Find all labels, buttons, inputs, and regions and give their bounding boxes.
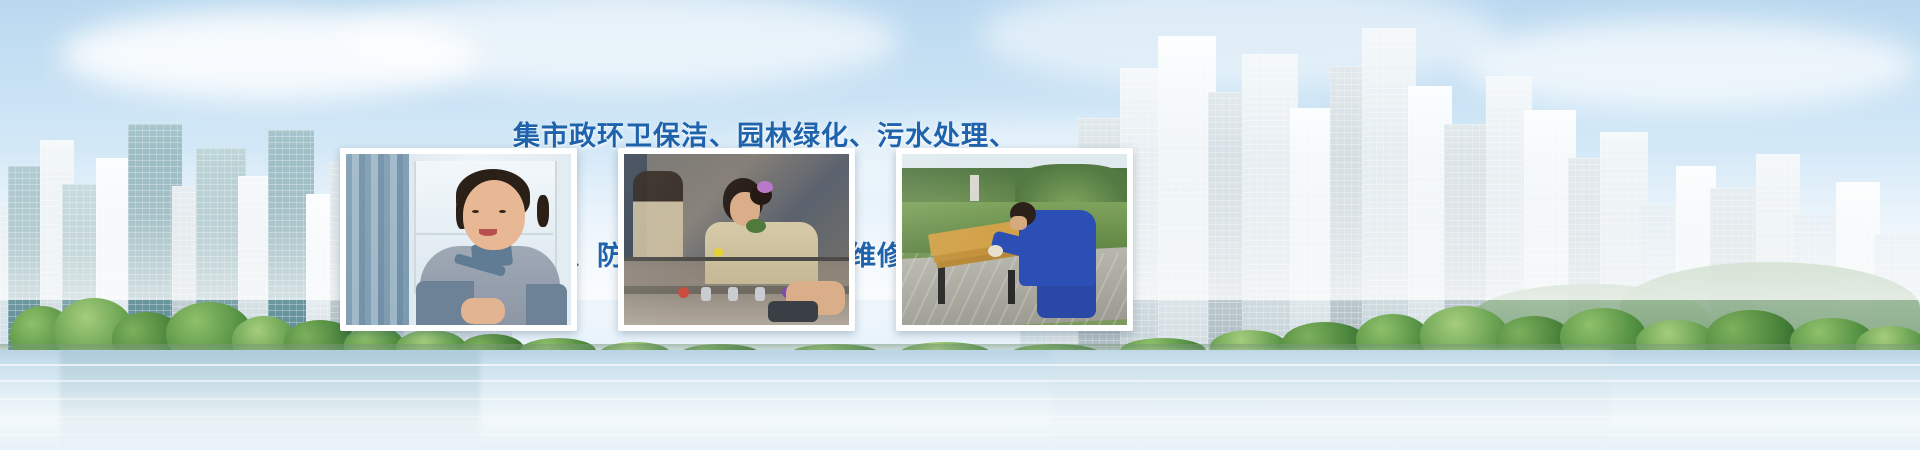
worker-painting-park-bench-image bbox=[902, 154, 1127, 325]
service-photo-card[interactable] bbox=[340, 148, 577, 331]
service-photo-card[interactable] bbox=[618, 148, 855, 331]
service-photo-card[interactable] bbox=[896, 148, 1133, 331]
smiling-uniformed-housekeeper-portrait-image bbox=[346, 154, 571, 325]
cleaner-wiping-bathroom-sink-image bbox=[624, 154, 849, 325]
river-water bbox=[0, 350, 1920, 450]
service-photo-card-group bbox=[340, 148, 1270, 333]
homepage-hero-banner: 集市政环卫保洁、园林绿化、污水处理、 消杀、防水补漏、工程装饰维修等为一体 bbox=[0, 0, 1920, 450]
